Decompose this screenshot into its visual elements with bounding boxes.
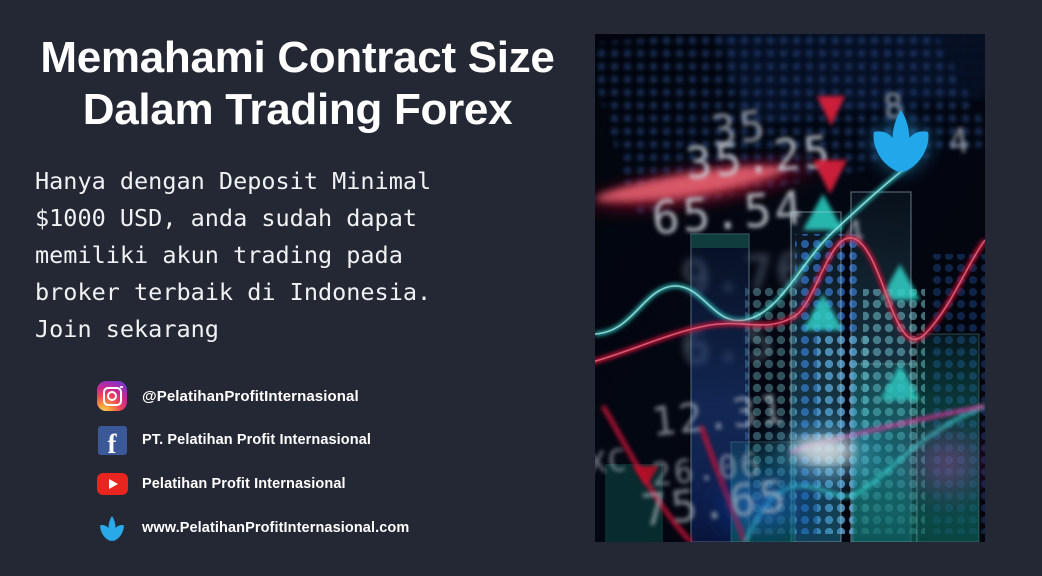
content-column: Memahami Contract Size Dalam Trading For…	[0, 0, 595, 576]
social-link-youtube[interactable]: Pelatihan Profit Internasional	[96, 462, 566, 506]
social-label-website: www.PelatihanProfitInternasional.com	[142, 520, 409, 536]
hero-image: 35 8 4 4 35.25 65.54 9.76 6.5	[595, 34, 985, 542]
body-copy-line-1: Hanya dengan Deposit Minimal	[35, 163, 560, 200]
social-label-instagram: @PelatihanProfitInternasional	[142, 388, 359, 405]
social-label-facebook: PT. Pelatihan Profit Internasional	[142, 432, 371, 448]
lotus-icon	[96, 512, 128, 544]
social-link-instagram[interactable]: @PelatihanProfitInternasional	[96, 374, 566, 418]
body-copy: Hanya dengan Deposit Minimal $1000 USD, …	[35, 163, 560, 348]
body-copy-line-3: memiliki akun trading pada	[35, 237, 560, 274]
social-links-list: @PelatihanProfitInternasional f PT. Pela…	[96, 374, 566, 550]
body-copy-line-2: $1000 USD, anda sudah dapat	[35, 200, 560, 237]
body-copy-line-4: broker terbaik di Indonesia.	[35, 274, 560, 311]
page-title-line-1: Memahami Contract Size	[10, 32, 585, 84]
poster-root: Memahami Contract Size Dalam Trading For…	[0, 0, 1042, 576]
brand-lotus-logo-icon	[868, 106, 934, 176]
body-copy-line-5: Join sekarang	[35, 311, 560, 348]
youtube-icon	[96, 468, 128, 500]
page-title: Memahami Contract Size Dalam Trading For…	[10, 32, 585, 136]
facebook-icon: f	[96, 424, 128, 456]
social-label-youtube: Pelatihan Profit Internasional	[142, 476, 346, 492]
lotus-icon-svg	[97, 513, 127, 543]
instagram-icon	[96, 380, 128, 412]
social-link-facebook[interactable]: f PT. Pelatihan Profit Internasional	[96, 418, 566, 462]
page-title-line-2: Dalam Trading Forex	[10, 84, 585, 136]
social-link-website[interactable]: www.PelatihanProfitInternasional.com	[96, 506, 566, 550]
